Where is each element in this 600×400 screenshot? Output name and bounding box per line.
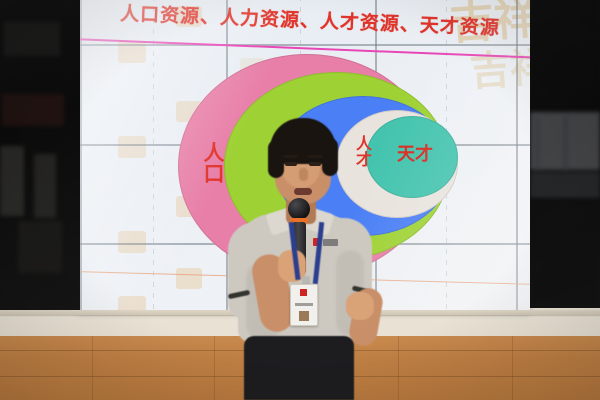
microphone-head[interactable] xyxy=(288,198,310,220)
badge-photo xyxy=(299,311,309,321)
speaker-eyebrow-left xyxy=(283,155,298,158)
speaker-eye-left xyxy=(285,162,297,166)
speaker-pants xyxy=(244,336,354,400)
shirt-chest-logo-text xyxy=(323,239,338,246)
speaker-hand-right xyxy=(346,292,374,320)
speaker-hair-side-right xyxy=(322,138,338,176)
speaker-hair-side-left xyxy=(268,140,284,178)
screenshot-root: 吉祥 吉祥 人口资源、人力资源、人才资源、天才资源 xyxy=(0,0,600,400)
speaker-nose xyxy=(299,168,308,181)
speaker-figure xyxy=(0,0,600,400)
id-badge xyxy=(290,284,318,326)
badge-logo xyxy=(300,289,307,296)
speaker-mouth xyxy=(294,188,312,195)
speaker-eye-right xyxy=(309,162,321,166)
speaker-eyebrow-right xyxy=(308,155,323,158)
badge-text-line xyxy=(295,303,313,306)
